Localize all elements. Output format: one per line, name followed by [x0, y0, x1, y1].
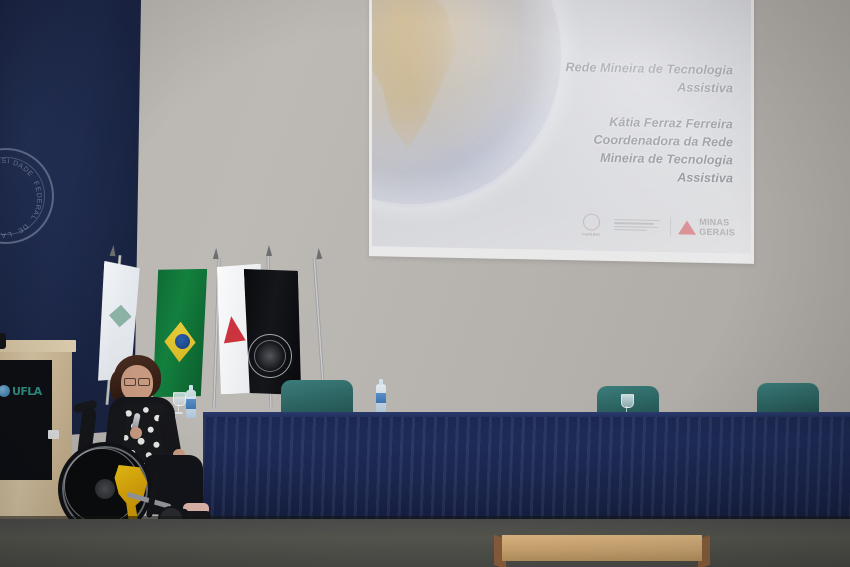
fapemig-mark-icon — [583, 213, 600, 230]
podium-logo-text: UFLA — [12, 385, 42, 398]
government-logo-line — [614, 222, 654, 224]
government-logo-line — [614, 226, 657, 228]
wooden-step — [494, 535, 710, 567]
presentation-photo: UNIVERSIDADE FEDERAL DE LAVRAS Rede Mine… — [0, 0, 850, 567]
wall-power-socket — [48, 430, 59, 439]
eyeglass-lens — [124, 378, 136, 386]
slide-title: Rede Mineira de Tecnologia Assistiva — [503, 57, 733, 98]
stage-floor — [0, 519, 850, 567]
podium-front-panel — [0, 360, 52, 480]
minas-gerais-logo-text: MINAS GERAIS — [699, 218, 735, 238]
flag-finial-icon — [266, 245, 272, 256]
government-logo-line — [614, 229, 647, 231]
glass-bowl — [621, 394, 634, 408]
fapemig-logo-label: FAPEMIG — [578, 232, 604, 237]
government-logo-icon — [614, 219, 660, 233]
ufla-wall-seal-text: UNIVERSIDADE FEDERAL DE LAVRAS — [0, 150, 50, 246]
slide-presenter-role-line-3: Assistiva — [503, 165, 733, 188]
flag-finial-icon — [316, 248, 323, 259]
podium-microphone-icon — [0, 333, 6, 349]
projection-screen: Rede Mineira de Tecnologia Assistiva Kát… — [372, 0, 751, 254]
eyeglass-lens — [138, 378, 150, 386]
minas-gerais-triangle-icon — [678, 220, 696, 234]
eyeglasses-icon — [124, 378, 150, 384]
flag-finial-icon — [213, 248, 219, 259]
minas-gerais-logo-icon: MINAS GERAIS — [670, 217, 735, 237]
minas-gerais-line-2: GERAIS — [699, 227, 735, 237]
flag-lavras-diamond — [109, 305, 132, 328]
podium-ufla-logo-icon: UFLA — [0, 383, 48, 399]
flag-lavras-emblem-icon — [107, 299, 134, 341]
speaker-hand-left — [130, 427, 142, 439]
fapemig-logo-icon: FAPEMIG — [578, 213, 604, 237]
head-table-skirt — [203, 417, 850, 530]
podium-top-surface — [0, 340, 76, 352]
podium-globe-icon — [0, 385, 10, 397]
slide-logo-row: FAPEMIG MINAS GERAIS — [578, 213, 735, 239]
seal-char: A — [0, 231, 6, 239]
bottle-label — [376, 393, 386, 403]
seal-char: L — [6, 230, 13, 238]
step-tread — [502, 535, 702, 561]
water-bottle — [376, 384, 386, 412]
seal-char: I — [7, 158, 11, 165]
slide-presenter-block: Kátia Ferraz Ferreira Coordenadora da Re… — [503, 111, 733, 188]
flag-minas-triangle-icon — [220, 315, 245, 344]
flag-finial-icon — [110, 245, 117, 256]
government-logo-line — [614, 219, 660, 222]
